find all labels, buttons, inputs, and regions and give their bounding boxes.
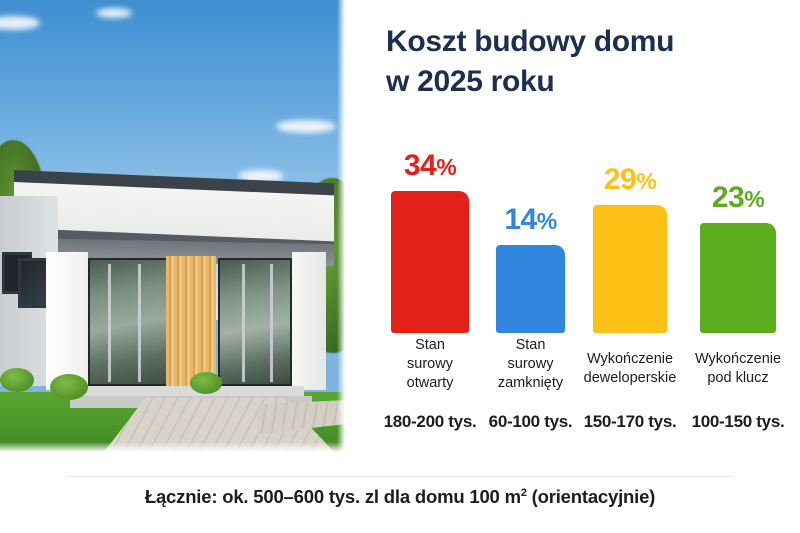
category-label-line: zamknięty xyxy=(484,374,577,393)
category-label-line: surowy xyxy=(484,355,577,374)
bar-column[interactable]: 23% xyxy=(700,128,776,333)
pillar xyxy=(46,252,88,390)
category-label-line: Stan xyxy=(379,336,481,355)
category-label: Stansurowyzamknięty xyxy=(484,336,577,393)
footer-divider xyxy=(68,476,732,477)
infographic-root: Koszt budowy domu w 2025 roku 34%14%29%2… xyxy=(0,0,800,533)
percent-symbol: % xyxy=(537,208,557,234)
category-label: Stansurowyotwarty xyxy=(379,336,481,393)
bar[interactable] xyxy=(700,223,776,333)
bush xyxy=(50,374,88,400)
cloud-icon xyxy=(96,8,132,18)
title-line-2: w 2025 roku xyxy=(386,62,786,102)
percent-symbol: % xyxy=(636,168,656,194)
bar-chart: 34%14%29%23% xyxy=(345,128,800,333)
title-line-1: Koszt budowy domu xyxy=(386,22,786,62)
price-label: 60-100 tys. xyxy=(482,412,579,432)
bar[interactable] xyxy=(593,205,667,333)
category-label: Wykończeniepod klucz xyxy=(688,350,788,388)
photo-fade xyxy=(0,442,345,452)
bar-value-label: 14% xyxy=(504,203,556,237)
bar-value-label: 23% xyxy=(712,181,764,215)
bar-value-label: 34% xyxy=(404,149,456,183)
price-label: 180-200 tys. xyxy=(377,412,483,432)
category-label-line: deweloperskie xyxy=(581,369,679,388)
bar-column[interactable]: 34% xyxy=(391,128,469,333)
bar[interactable] xyxy=(391,191,469,333)
category-label-line: pod klucz xyxy=(688,369,788,388)
cloud-icon xyxy=(276,120,336,133)
glass-facade xyxy=(88,258,168,386)
percent-symbol: % xyxy=(436,154,456,180)
house-photo xyxy=(0,0,345,452)
bush xyxy=(190,372,222,394)
percent-symbol: % xyxy=(744,186,764,212)
bush xyxy=(0,368,34,392)
category-label-line: surowy xyxy=(379,355,481,374)
bar-value-label: 29% xyxy=(604,163,656,197)
pillar xyxy=(292,252,326,390)
footer-note: Łącznie: ok. 500–600 tys. zl dla domu 10… xyxy=(0,486,800,508)
category-label-line: Wykończenie xyxy=(581,350,679,369)
chart-panel: Koszt budowy domu w 2025 roku 34%14%29%2… xyxy=(345,0,800,452)
category-label: Wykończeniedeweloperskie xyxy=(581,350,679,388)
mullion xyxy=(270,264,273,382)
category-label-line: otwarty xyxy=(379,374,481,393)
category-label-line: Wykończenie xyxy=(688,350,788,369)
footer-text-prefix: Łącznie: ok. 500–600 tys. zl dla domu 10… xyxy=(145,486,521,507)
page-title: Koszt budowy domu w 2025 roku xyxy=(386,22,786,102)
price-label: 150-170 tys. xyxy=(579,412,681,432)
footer-text-suffix: (orientacyjnie) xyxy=(527,486,655,507)
price-label: 100-150 tys. xyxy=(686,412,790,432)
bar-column[interactable]: 29% xyxy=(593,128,667,333)
bar-value-number: 29 xyxy=(604,163,636,196)
bar-value-number: 23 xyxy=(712,181,744,214)
wood-cladding-door xyxy=(166,256,216,388)
mullion xyxy=(108,264,111,382)
glass-facade xyxy=(218,258,292,386)
price-label-row: 180-200 tys.60-100 tys.150-170 tys.100-1… xyxy=(345,412,800,438)
mullion xyxy=(242,264,245,382)
category-label-line: Stan xyxy=(484,336,577,355)
photo-fade xyxy=(337,0,345,452)
bar-value-number: 14 xyxy=(504,203,536,236)
category-label-row: StansurowyotwartyStansurowyzamkniętyWyko… xyxy=(345,336,800,406)
mullion xyxy=(138,264,141,382)
bar-column[interactable]: 14% xyxy=(496,128,565,333)
bar[interactable] xyxy=(496,245,565,333)
bar-value-number: 34 xyxy=(404,149,436,182)
